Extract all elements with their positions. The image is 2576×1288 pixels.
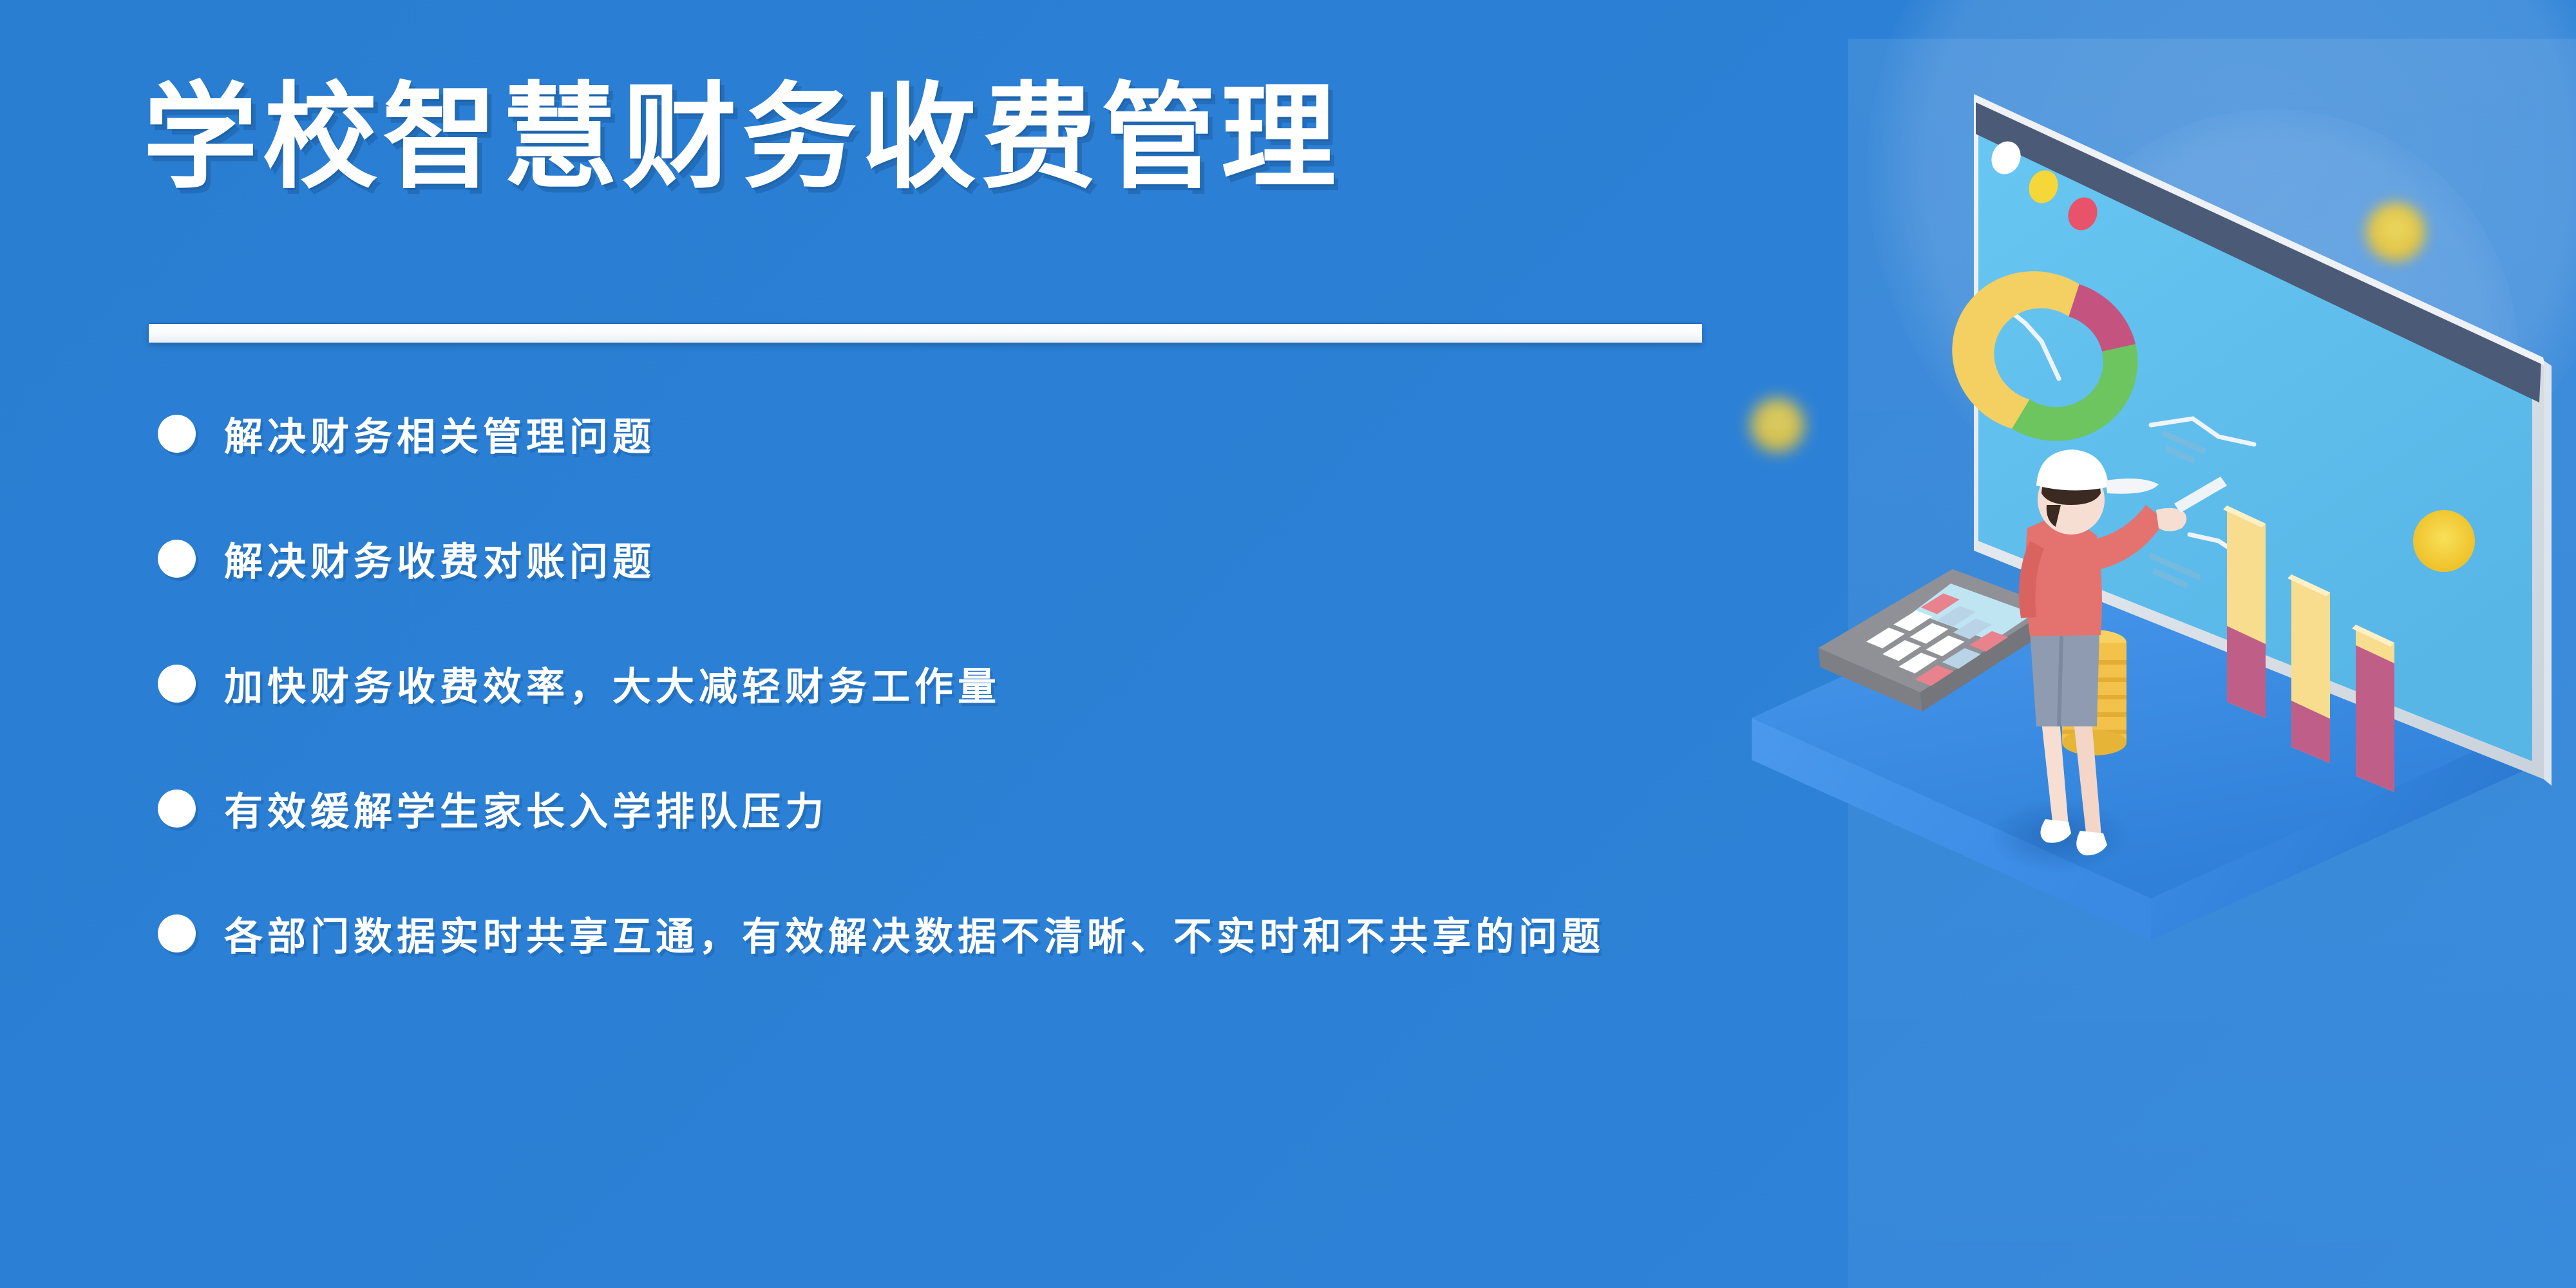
isometric-finance-dashboard-illustration [1739, 26, 2576, 940]
list-item-label: 解决财务相关管理问题 [224, 406, 656, 462]
bullet-dot-icon [158, 914, 196, 952]
page-title: 学校智慧财务收费管理 [143, 76, 1341, 200]
floating-sphere-top-right [2366, 202, 2425, 261]
bullet-dot-icon [158, 790, 196, 828]
list-item-label: 各部门数据实时共享互通，有效解决数据不清晰、不实时和不共享的问题 [224, 905, 1605, 961]
title-divider [149, 324, 1702, 343]
bullet-dot-icon [158, 540, 196, 578]
list-item-label: 解决财务收费对账问题 [224, 531, 656, 587]
bullet-dot-icon [158, 665, 196, 703]
bullet-dot-icon [158, 415, 196, 453]
banner-canvas: 学校智慧财务收费管理 解决财务相关管理问题 解决财务收费对账问题 加快财务收费效… [0, 0, 2576, 1288]
list-item-label: 有效缓解学生家长入学排队压力 [224, 781, 828, 837]
floating-sphere-right [2413, 510, 2475, 572]
floating-sphere-left [1750, 398, 1804, 452]
list-item-label: 加快财务收费效率，大大减轻财务工作量 [224, 656, 1001, 712]
